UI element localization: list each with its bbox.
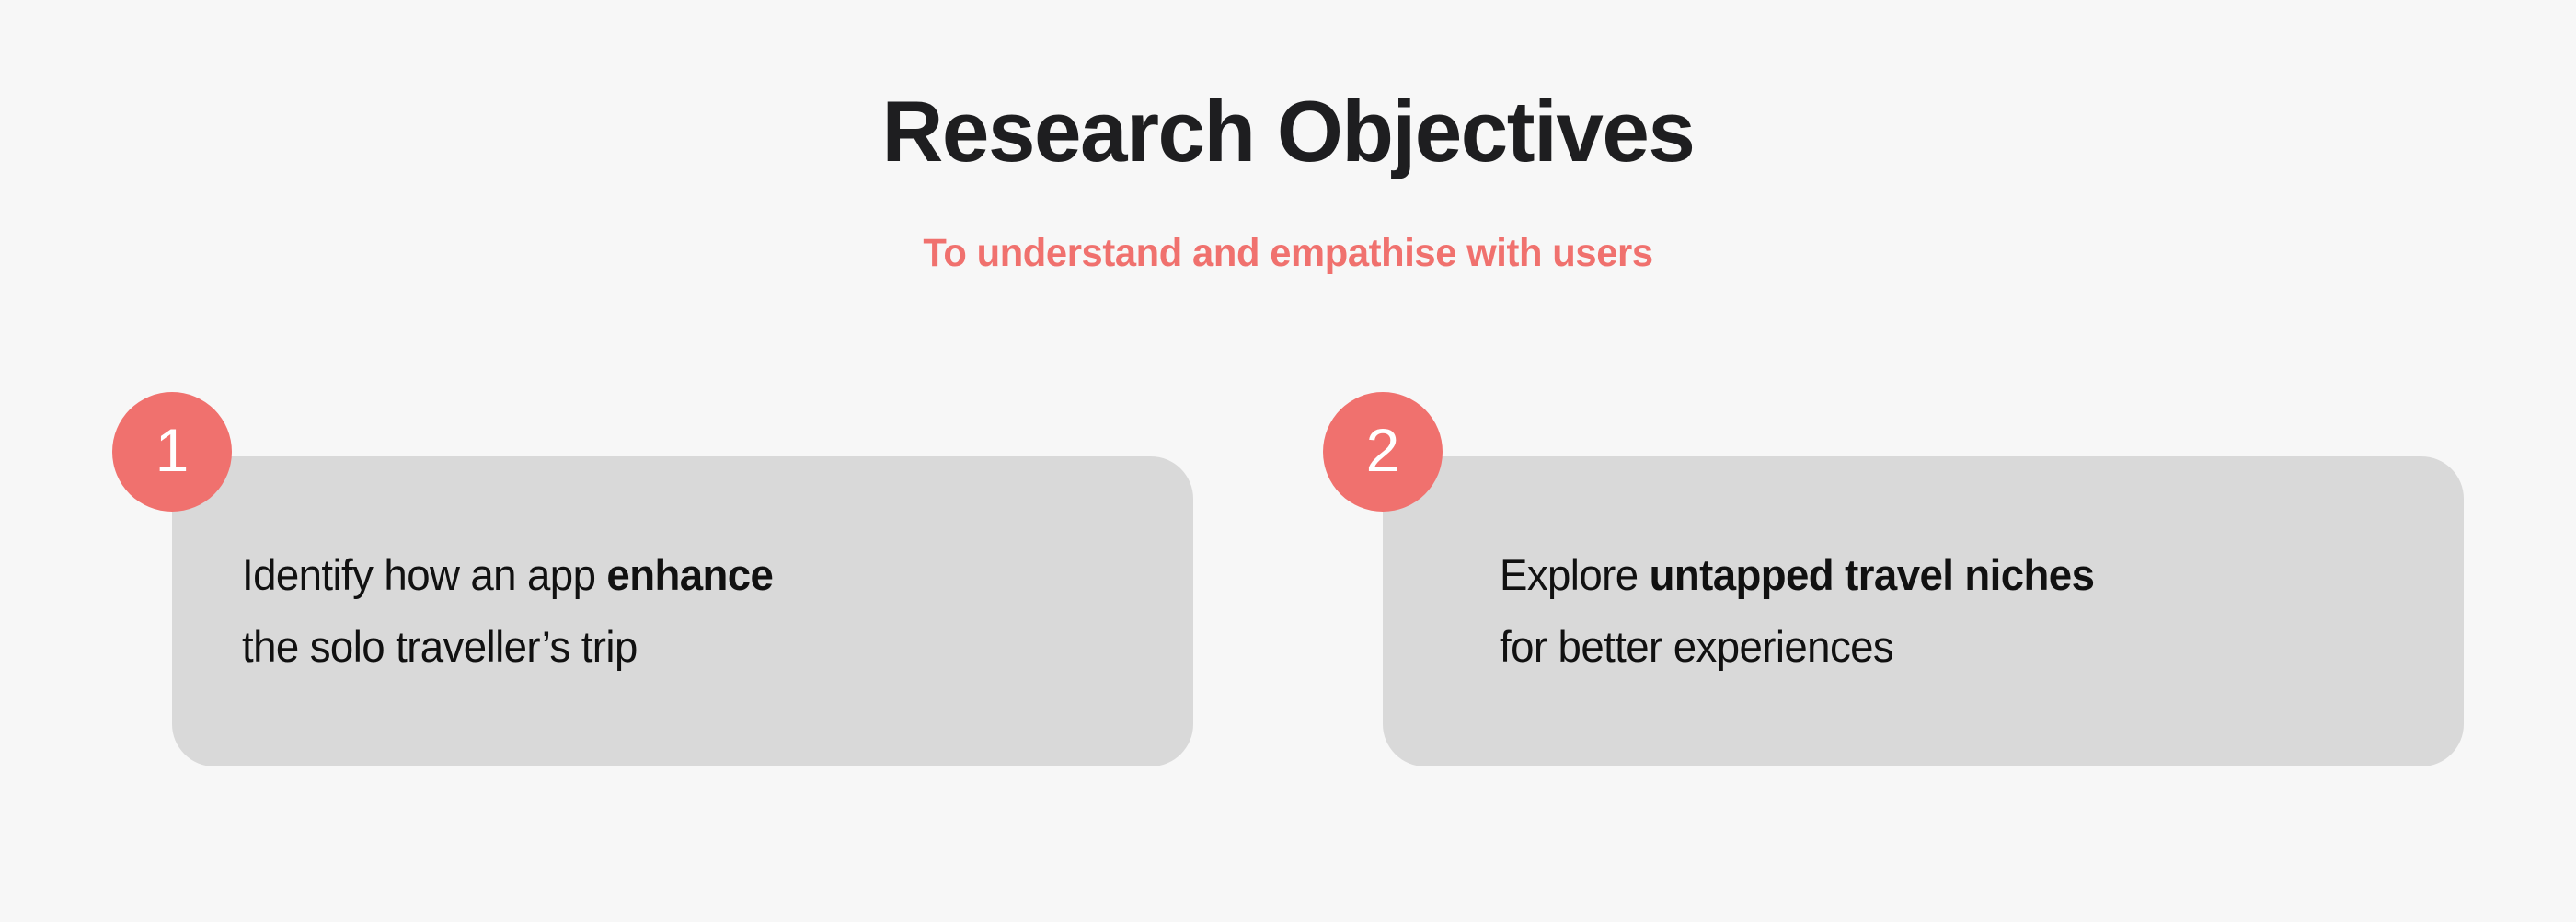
objective-2-line2: for better experiences bbox=[1500, 622, 1893, 671]
objective-2-line1-emphasis: untapped travel niches bbox=[1650, 550, 2095, 599]
objective-1-line2: the solo traveller’s trip bbox=[242, 622, 638, 671]
objective-card-2-text: Explore untapped travel niches for bette… bbox=[1500, 539, 2401, 683]
slide-canvas: Research Objectives To understand and em… bbox=[0, 0, 2576, 922]
objective-number-badge-1: 1 bbox=[112, 392, 232, 512]
objective-card-2: 2 Explore untapped travel niches for bet… bbox=[1323, 392, 2464, 766]
objective-1-line1-prefix: Identify how an app bbox=[242, 550, 606, 599]
objective-2-line1-prefix: Explore bbox=[1500, 550, 1650, 599]
objective-number-badge-2: 2 bbox=[1323, 392, 1443, 512]
objective-card-1: 1 Identify how an app enhance the solo t… bbox=[112, 392, 1253, 766]
objective-number-badge-2-label: 2 bbox=[1366, 420, 1400, 480]
page-title: Research Objectives bbox=[19, 88, 2557, 175]
objective-number-badge-1-label: 1 bbox=[155, 420, 190, 480]
page-subtitle: To understand and empathise with users bbox=[39, 234, 2537, 273]
objective-1-line1-emphasis: enhance bbox=[606, 550, 773, 599]
objective-card-1-text: Identify how an app enhance the solo tra… bbox=[242, 539, 1098, 683]
